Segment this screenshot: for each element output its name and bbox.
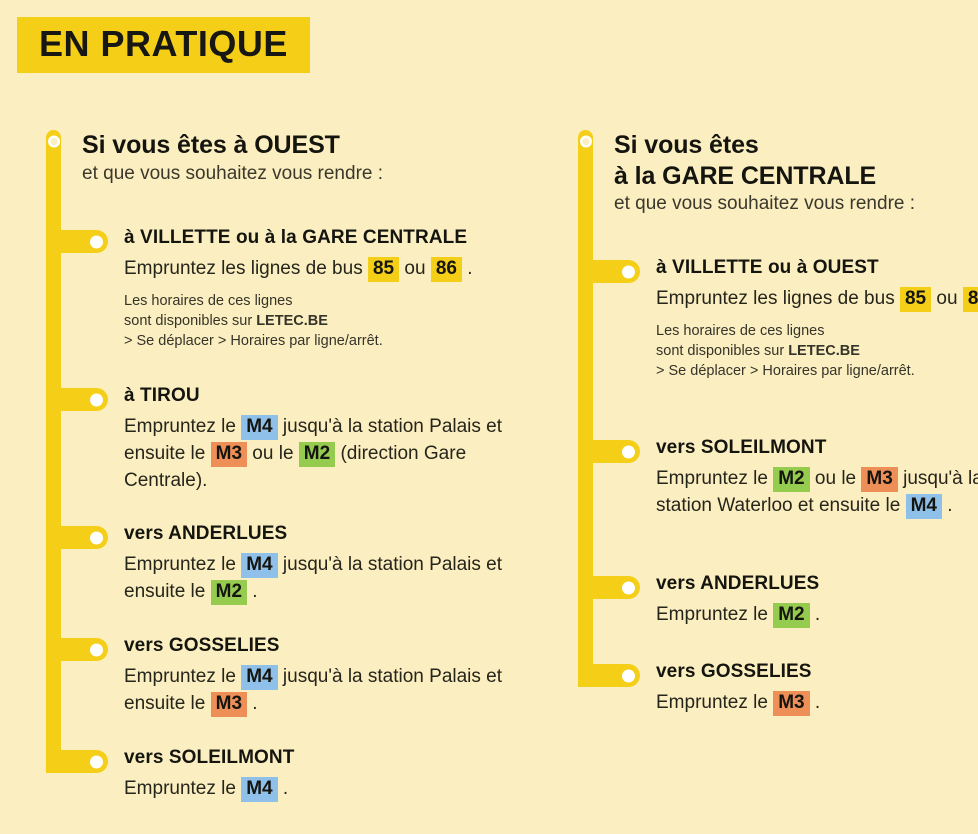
branch-body: vers ANDERLUESEmpruntez le M4 jusqu'à la…	[124, 522, 544, 606]
trunk-start-node-icon	[50, 138, 57, 145]
line-badge-m3: M3	[861, 467, 897, 492]
branch-connector	[46, 230, 108, 253]
letec-site-label: LETEC.BE	[788, 343, 860, 359]
page-title: EN PRATIQUE	[39, 26, 288, 62]
branch-body: vers SOLEILMONTEmpruntez le M4 .	[124, 746, 544, 803]
column-title: Si vous êtesà la GARE CENTRALE	[614, 130, 915, 191]
line-badge-m2: M2	[773, 603, 809, 628]
branch-title: vers GOSSELIES	[656, 660, 978, 684]
branch-node-icon	[622, 581, 635, 594]
trunk-line-ouest	[46, 130, 61, 762]
branch-instruction: Empruntez le M4 jusqu'à la station Palai…	[124, 552, 544, 606]
branch-node-icon	[90, 235, 103, 248]
schedule-note-line1: Les horaires de ces lignes	[124, 291, 544, 311]
schedule-note-line2: sont disponibles sur LETEC.BE	[124, 311, 544, 331]
line-badge-m4: M4	[241, 665, 277, 690]
branch-title: à VILLETTE ou à la GARE CENTRALE	[124, 226, 544, 250]
line-badge-m3: M3	[211, 442, 247, 467]
branch-body: vers GOSSELIESEmpruntez le M3 .	[656, 660, 978, 717]
schedule-note-line3: > Se déplacer > Horaires par ligne/arrêt…	[656, 361, 978, 381]
branch-body: à TIROUEmpruntez le M4 jusqu'à la statio…	[124, 384, 544, 495]
branch-instruction: Empruntez les lignes de bus 85 ou 86 .	[656, 286, 978, 313]
branch-node-icon	[622, 669, 635, 682]
branch-connector	[578, 440, 640, 463]
schedule-note-line2: sont disponibles sur LETEC.BE	[656, 341, 978, 361]
branch-node-icon	[622, 265, 635, 278]
line-badge-m2: M2	[299, 442, 335, 467]
branch-title: vers ANDERLUES	[124, 522, 544, 546]
branch-instruction: Empruntez le M4 .	[124, 776, 544, 803]
branch-instruction: Empruntez les lignes de bus 85 ou 86 .	[124, 256, 544, 283]
branch-node-icon	[90, 643, 103, 656]
line-badge-m4: M4	[241, 415, 277, 440]
column-heading-gare-centrale: Si vous êtesà la GARE CENTRALEet que vou…	[614, 130, 915, 216]
column-title-line2: à la GARE CENTRALE	[614, 161, 915, 192]
branch-connector	[578, 260, 640, 283]
column-title: Si vous êtes à OUEST	[82, 130, 383, 161]
branch-body: vers GOSSELIESEmpruntez le M4 jusqu'à la…	[124, 634, 544, 718]
branch-instruction: Empruntez le M4 jusqu'à la station Palai…	[124, 664, 544, 718]
branch-connector	[46, 526, 108, 549]
line-badge-m4: M4	[906, 494, 942, 519]
line-badge-m4: M4	[241, 553, 277, 578]
column-title-line1: Si vous êtes à OUEST	[82, 130, 383, 161]
branch-title: vers GOSSELIES	[124, 634, 544, 658]
branch-body: vers SOLEILMONTEmpruntez le M2 ou le M3 …	[656, 436, 978, 520]
branch-body: vers ANDERLUESEmpruntez le M2 .	[656, 572, 978, 629]
line-badge-85: 85	[900, 287, 931, 312]
branch-instruction: Empruntez le M2 ou le M3 jusqu'à la stat…	[656, 466, 978, 520]
branch-node-icon	[90, 393, 103, 406]
column-heading-ouest: Si vous êtes à OUESTet que vous souhaite…	[82, 130, 383, 185]
branch-connector	[46, 638, 108, 661]
column-subtitle: et que vous souhaitez vous rendre :	[82, 163, 383, 186]
branch-connector	[578, 576, 640, 599]
branch-title: vers SOLEILMONT	[124, 746, 544, 770]
branch-instruction: Empruntez le M2 .	[656, 602, 978, 629]
branch-node-icon	[90, 755, 103, 768]
column-title-line1: Si vous êtes	[614, 130, 915, 161]
letec-site-label: LETEC.BE	[256, 313, 328, 329]
branch-title: à TIROU	[124, 384, 544, 408]
line-badge-m3: M3	[211, 692, 247, 717]
schedule-note-line1: Les horaires de ces lignes	[656, 321, 978, 341]
schedule-note: Les horaires de ces lignessont disponibl…	[656, 321, 978, 381]
branch-connector	[46, 388, 108, 411]
branch-connector	[46, 750, 108, 773]
branch-connector	[578, 664, 640, 687]
line-badge-m2: M2	[773, 467, 809, 492]
line-badge-m3: M3	[773, 691, 809, 716]
schedule-note-line3: > Se déplacer > Horaires par ligne/arrêt…	[124, 331, 544, 351]
column-subtitle: et que vous souhaitez vous rendre :	[614, 193, 915, 216]
header-banner: EN PRATIQUE	[17, 17, 310, 73]
branch-instruction: Empruntez le M4 jusqu'à la station Palai…	[124, 414, 544, 495]
branch-instruction: Empruntez le M3 .	[656, 690, 978, 717]
branch-node-icon	[622, 445, 635, 458]
schedule-note: Les horaires de ces lignessont disponibl…	[124, 291, 544, 351]
line-badge-m4: M4	[241, 777, 277, 802]
line-badge-m2: M2	[211, 580, 247, 605]
branch-body: à VILLETTE ou à OUESTEmpruntez les ligne…	[656, 256, 978, 381]
branch-body: à VILLETTE ou à la GARE CENTRALEEmprunte…	[124, 226, 544, 351]
line-badge-85: 85	[368, 257, 399, 282]
branch-title: à VILLETTE ou à OUEST	[656, 256, 978, 280]
branch-title: vers ANDERLUES	[656, 572, 978, 596]
branch-node-icon	[90, 531, 103, 544]
trunk-start-node-icon	[582, 138, 589, 145]
line-badge-86: 86	[963, 287, 978, 312]
line-badge-86: 86	[431, 257, 462, 282]
branch-title: vers SOLEILMONT	[656, 436, 978, 460]
